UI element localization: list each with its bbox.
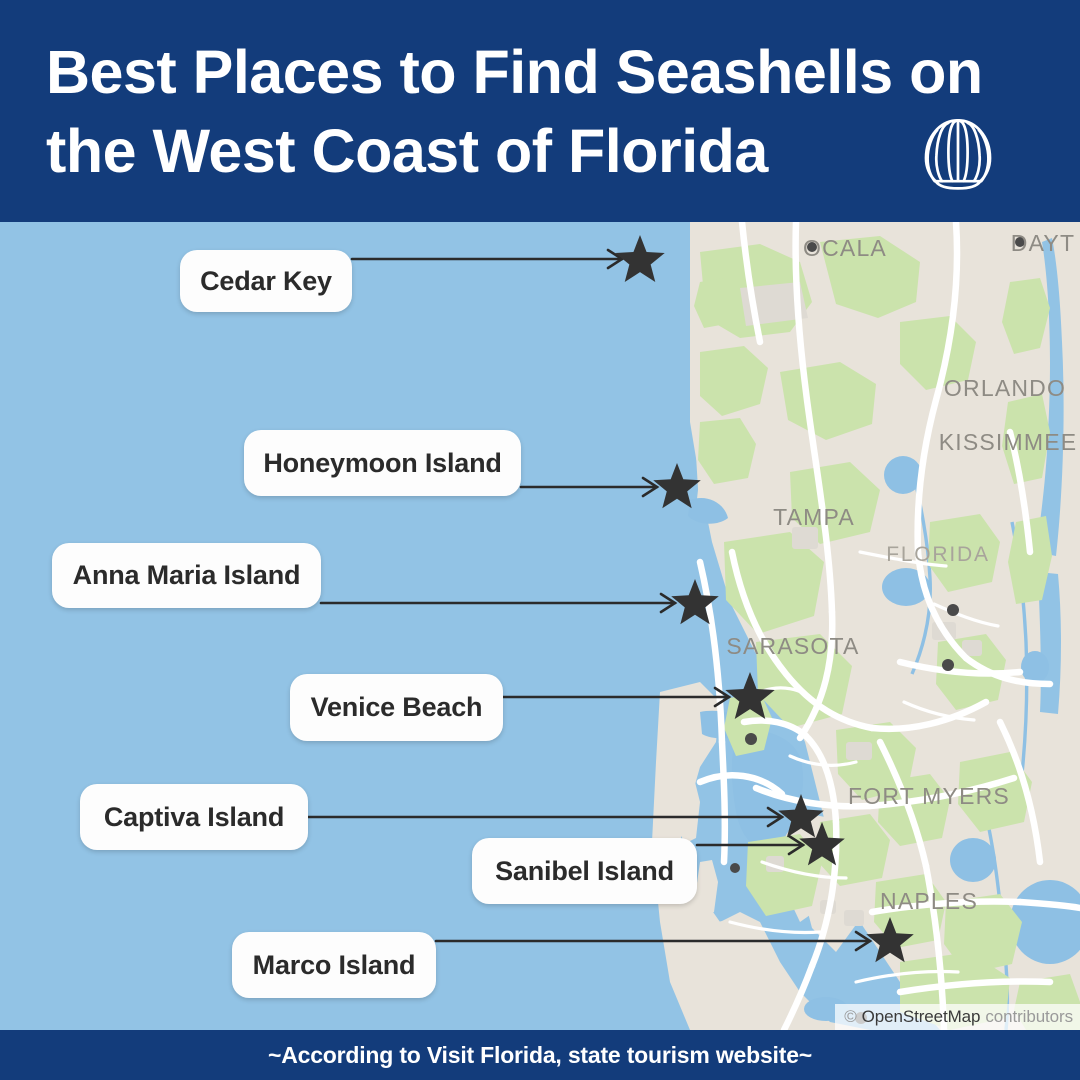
star-marker-captiva-island[interactable] [778, 794, 824, 837]
place-label-anna-maria-island[interactable]: Anna Maria Island [52, 543, 321, 608]
star-marker-anna-maria-island[interactable] [671, 579, 719, 624]
page-title: Best Places to Find Seashells on the Wes… [46, 33, 1046, 190]
arrows-and-stars [0, 222, 1080, 1030]
place-label-cedar-key[interactable]: Cedar Key [180, 250, 352, 312]
star-marker-honeymoon-island[interactable] [653, 463, 701, 508]
scallop-shell-icon [918, 114, 998, 194]
star-marker-venice-beach[interactable] [725, 672, 774, 719]
footer-banner: ~According to Visit Florida, state touri… [0, 1030, 1080, 1080]
star-marker-marco-island[interactable] [866, 917, 914, 962]
place-label-venice-beach[interactable]: Venice Beach [290, 674, 503, 741]
header-banner: Best Places to Find Seashells on the Wes… [0, 0, 1080, 222]
place-label-marco-island[interactable]: Marco Island [232, 932, 436, 998]
annotation-layer: Cedar KeyHoneymoon IslandAnna Maria Isla… [0, 222, 1080, 1030]
footer-source-text: ~According to Visit Florida, state touri… [268, 1042, 812, 1069]
star-marker-cedar-key[interactable] [615, 235, 664, 282]
place-label-sanibel-island[interactable]: Sanibel Island [472, 838, 697, 904]
place-label-honeymoon-island[interactable]: Honeymoon Island [244, 430, 521, 496]
place-label-captiva-island[interactable]: Captiva Island [80, 784, 308, 850]
